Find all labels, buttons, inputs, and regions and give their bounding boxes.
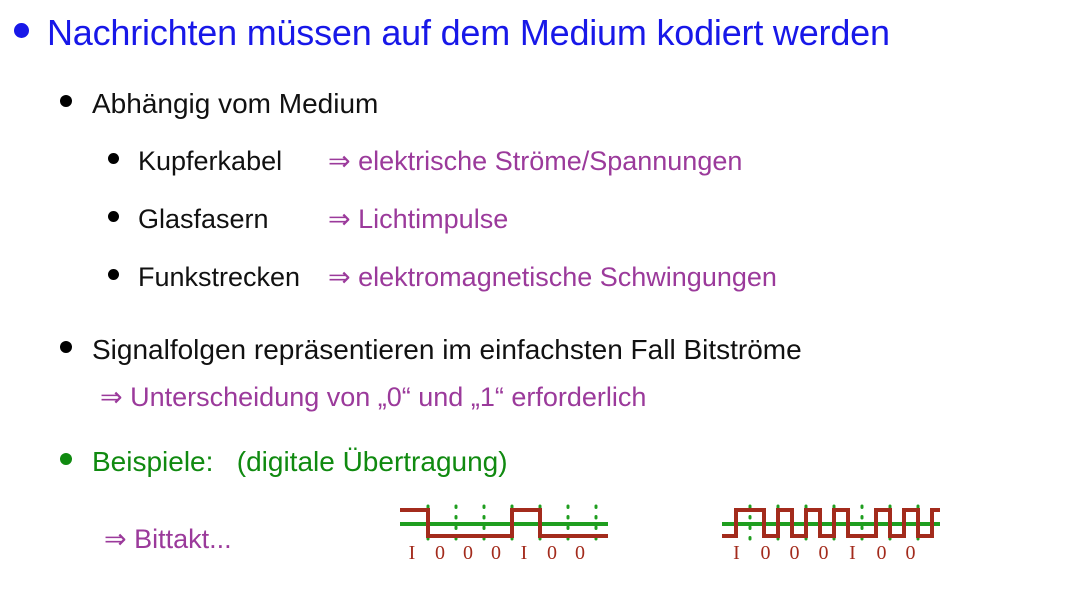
nrz-waveform-svg bbox=[396, 500, 612, 548]
bit-label: 0 bbox=[867, 542, 896, 565]
chart-nrz-waveform: I 0 0 0 I 0 0 bbox=[396, 500, 612, 553]
kupferkabel-value: elektrische Ströme/Spannungen bbox=[358, 146, 742, 176]
bullet-disc-icon bbox=[60, 453, 72, 465]
signalfolgen-label: Signalfolgen repräsentieren im einfachst… bbox=[92, 334, 802, 366]
arrow-icon: ⇒ bbox=[328, 262, 351, 292]
bit-label: I bbox=[510, 542, 538, 565]
funkstrecken-value: elektromagnetische Schwingungen bbox=[358, 262, 777, 292]
bit-label: 0 bbox=[482, 542, 510, 565]
arrow-icon: ⇒ bbox=[328, 204, 351, 234]
bullet-disc-icon bbox=[108, 211, 119, 222]
nrz-bit-labels: I 0 0 0 I 0 0 bbox=[398, 542, 594, 565]
bit-label: 0 bbox=[809, 542, 838, 565]
funkstrecken-label: Funkstrecken bbox=[138, 262, 328, 293]
bullet-item-beispiele: Beispiele: (digitale Übertragung) bbox=[60, 446, 508, 478]
bit-label: I bbox=[398, 542, 426, 565]
bullet-disc-icon bbox=[108, 269, 119, 280]
bullet-item-title: Nachrichten müssen auf dem Medium kodier… bbox=[14, 12, 890, 54]
beispiele-note: (digitale Übertragung) bbox=[237, 446, 508, 477]
bit-label: 0 bbox=[454, 542, 482, 565]
bullet-item-kupferkabel: Kupferkabel⇒ elektrische Ströme/Spannung… bbox=[108, 146, 742, 177]
bit-label: 0 bbox=[566, 542, 594, 565]
bullet-item-funkstrecken: Funkstrecken⇒ elektromagnetische Schwing… bbox=[108, 262, 777, 293]
bullet-disc-icon bbox=[60, 341, 72, 353]
bullet-item-glasfasern: Glasfasern⇒ Lichtimpulse bbox=[108, 204, 508, 235]
bit-label: 0 bbox=[426, 542, 454, 565]
medium-label: Abhängig vom Medium bbox=[92, 88, 378, 120]
manchester-bit-labels: I 0 0 0 I 0 0 bbox=[722, 542, 925, 565]
signalfolgen-continuation: ⇒ Unterscheidung von „0“ und „1“ erforde… bbox=[100, 382, 646, 413]
bullet-disc-icon bbox=[60, 95, 72, 107]
bittakt-continuation: ⇒ Bittakt... bbox=[104, 524, 232, 555]
beispiele-label: Beispiele: bbox=[92, 446, 213, 477]
bullet-item-medium: Abhängig vom Medium bbox=[60, 88, 378, 120]
manchester-waveform-svg bbox=[718, 500, 944, 548]
kupferkabel-label: Kupferkabel bbox=[138, 146, 328, 177]
bit-label: 0 bbox=[538, 542, 566, 565]
bullet-disc-icon bbox=[14, 23, 29, 38]
bit-label: I bbox=[838, 542, 867, 565]
chart-manchester-waveform: I 0 0 0 I 0 0 bbox=[718, 500, 944, 553]
bit-label: 0 bbox=[751, 542, 780, 565]
bullet-item-signalfolgen: Signalfolgen repräsentieren im einfachst… bbox=[60, 334, 802, 366]
arrow-icon: ⇒ bbox=[328, 146, 351, 176]
glasfasern-label: Glasfasern bbox=[138, 204, 328, 235]
bit-label: 0 bbox=[896, 542, 925, 565]
page-title: Nachrichten müssen auf dem Medium kodier… bbox=[47, 12, 890, 54]
bit-label: I bbox=[722, 542, 751, 565]
bit-label: 0 bbox=[780, 542, 809, 565]
bullet-disc-icon bbox=[108, 153, 119, 164]
glasfasern-value: Lichtimpulse bbox=[358, 204, 508, 234]
slide-canvas: Nachrichten müssen auf dem Medium kodier… bbox=[0, 0, 1084, 600]
